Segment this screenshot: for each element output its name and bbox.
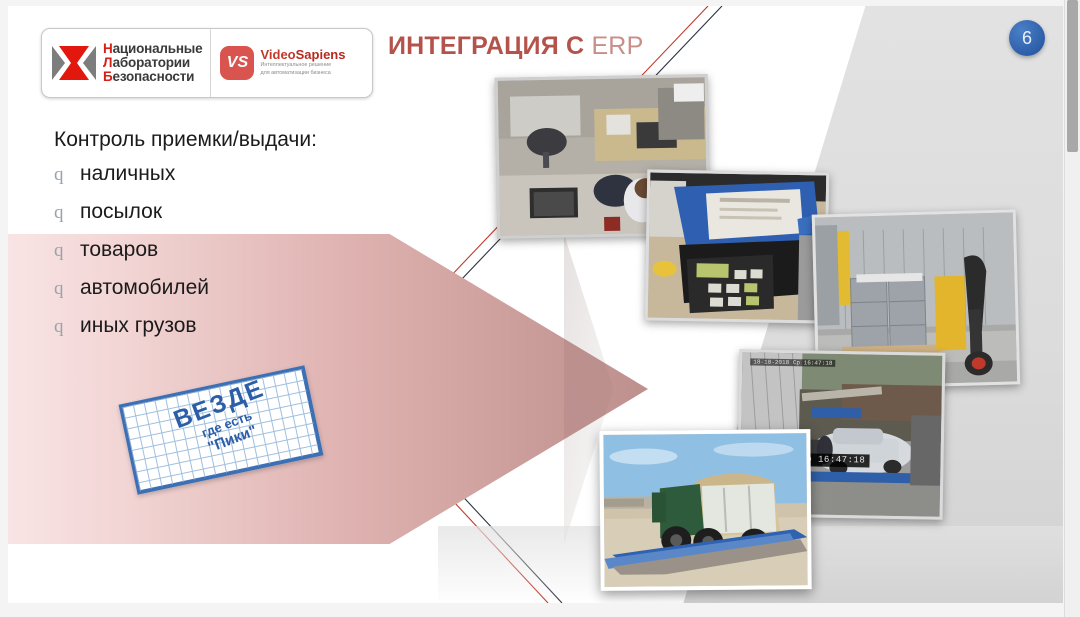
bullet-label: иных грузов: [80, 314, 197, 338]
slide-number-label: 6: [1022, 28, 1032, 49]
videosapiens-text: VideoSapiens Интеллектуальное решение дл…: [260, 48, 345, 78]
videosapiens-tagline-2: для автоматизации бизнеса: [260, 70, 345, 78]
lead-text: Контроль приемки/выдачи:: [54, 128, 317, 152]
bullet-label: наличных: [80, 162, 175, 186]
bullet-glyph-icon: q: [54, 202, 66, 224]
bullet-list: q наличных q посылок q товаров q автомоб…: [54, 162, 209, 352]
nlb-line-2: Лаборатории: [103, 56, 202, 70]
bullet-glyph-icon: q: [54, 316, 66, 338]
bullet-glyph-icon: q: [54, 278, 66, 300]
cctv-top-timestamp: 18-10-2018 Ср 16:47:18: [750, 358, 835, 366]
nlb-line-3: Безопасности: [103, 70, 202, 84]
bullet-label: автомобилей: [80, 276, 209, 300]
slide-number-badge: 6: [1009, 20, 1045, 56]
slide-title: ИНТЕГРАЦИЯ С ERP: [388, 32, 643, 61]
list-item: q товаров: [54, 238, 209, 276]
slide-title-strong: ИНТЕГРАЦИЯ С: [388, 32, 584, 60]
slide-title-light: ERP: [591, 32, 643, 60]
dump-truck-weighbridge-photo: [599, 429, 811, 591]
slide-viewer: Национальные Лаборатории Безопасности VS…: [0, 0, 1080, 617]
presentation-slide: Национальные Лаборатории Безопасности VS…: [8, 6, 1063, 603]
vertical-scrollbar[interactable]: [1064, 0, 1080, 617]
vs-badge-label: VS: [227, 54, 248, 72]
nlb-hourglass-mark: [52, 43, 96, 83]
nlb-line-1: Национальные: [103, 42, 202, 56]
bullet-label: товаров: [80, 238, 158, 262]
list-item: q иных грузов: [54, 314, 209, 352]
company-logo-bar: Национальные Лаборатории Безопасности VS…: [41, 28, 373, 98]
list-item: q наличных: [54, 162, 209, 200]
nlb-wordmark: Национальные Лаборатории Безопасности: [103, 42, 202, 83]
videosapiens-tagline-1: Интеллектуальное решение: [260, 62, 345, 70]
nlb-logo-group: Национальные Лаборатории Безопасности: [42, 29, 211, 97]
bullet-glyph-icon: q: [54, 164, 66, 186]
parcel-on-digital-scale-photo: [645, 169, 830, 323]
bullet-label: посылок: [80, 200, 162, 224]
list-item: q посылок: [54, 200, 209, 238]
vs-badge-icon: VS: [220, 46, 254, 80]
list-item: q автомобилей: [54, 276, 209, 314]
bullet-glyph-icon: q: [54, 240, 66, 262]
scrollbar-thumb[interactable]: [1067, 0, 1078, 152]
videosapiens-wordmark: VideoSapiens: [260, 48, 345, 62]
videosapiens-logo-group: VS VideoSapiens Интеллектуальное решение…: [211, 29, 353, 97]
